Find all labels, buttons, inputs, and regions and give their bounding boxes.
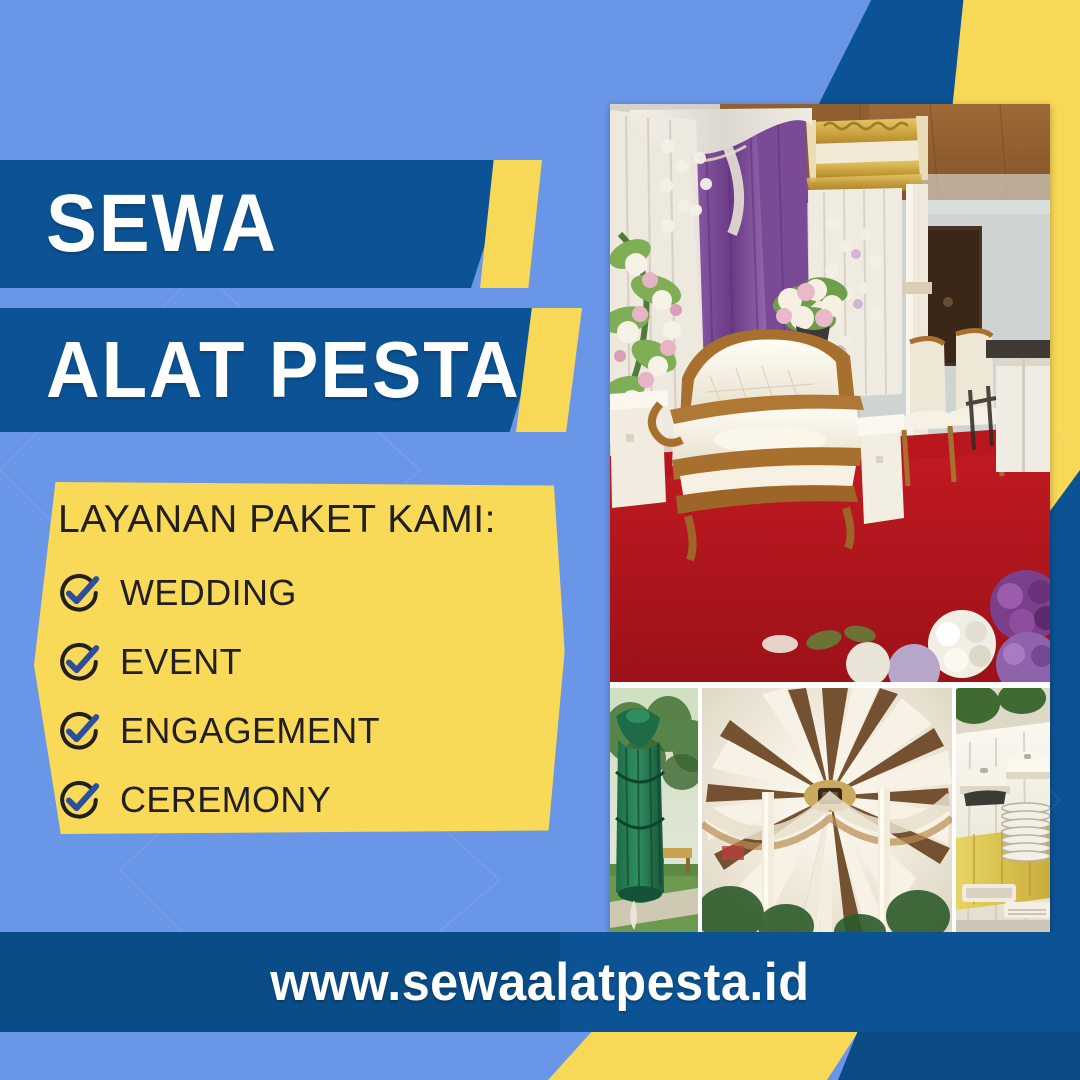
website-url[interactable]: www.sewaalatpesta.id [270, 952, 809, 1013]
service-label: EVENT [120, 641, 242, 683]
headline-line-1: SEWA [46, 183, 278, 265]
green-canopy-photo [610, 688, 698, 940]
check-circle-icon [56, 777, 102, 823]
service-item-engagement[interactable]: ENGAGEMENT [56, 696, 560, 765]
check-circle-icon [56, 708, 102, 754]
headline-band-1: SEWA [0, 160, 512, 288]
service-label: CEREMONY [120, 779, 331, 821]
check-circle-icon [56, 639, 102, 685]
catering-setup-photo [956, 688, 1050, 940]
wedding-stage-photo [610, 104, 1050, 682]
services-panel: LAYANAN PAKET KAMI: WEDDING [34, 482, 570, 834]
poster-canvas: SEWA ALAT PESTA LAYANAN PAKET KAMI: WEDD… [0, 0, 1080, 1080]
tent-ceiling-photo [702, 688, 952, 940]
service-item-wedding[interactable]: WEDDING [56, 558, 560, 627]
service-item-event[interactable]: EVENT [56, 627, 560, 696]
check-circle-icon [56, 570, 102, 616]
bottom-right-blue-block [838, 1032, 1080, 1080]
footer-bar: www.sewaalatpesta.id [0, 932, 1080, 1032]
services-list: WEDDING EVENT ENGAGEME [56, 558, 560, 834]
service-label: WEDDING [120, 572, 297, 614]
service-label: ENGAGEMENT [120, 710, 380, 752]
services-panel-title: LAYANAN PAKET KAMI: [58, 498, 496, 542]
headline-band-2: ALAT PESTA [0, 308, 548, 432]
headline-line-2: ALAT PESTA [46, 330, 521, 410]
photo-collage [610, 104, 1050, 940]
service-item-ceremony[interactable]: CEREMONY [56, 765, 560, 834]
photo-strip [610, 688, 1050, 940]
bottom-yellow-parallelogram [548, 1032, 858, 1080]
